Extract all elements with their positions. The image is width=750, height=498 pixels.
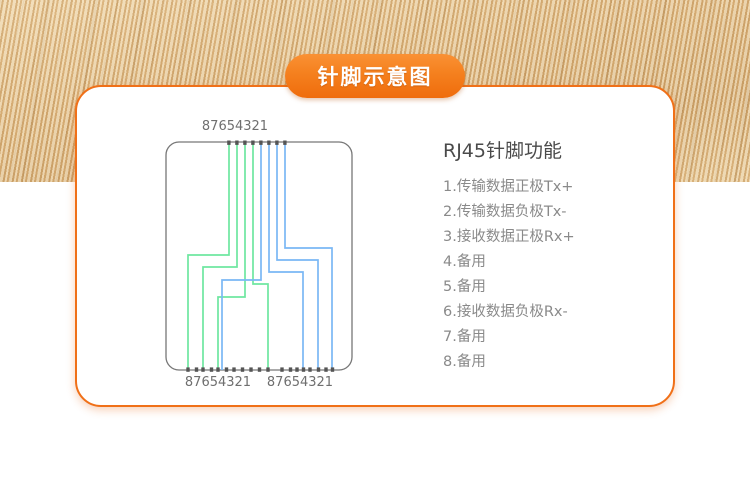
pin-function-item: 7.备用 <box>443 325 663 350</box>
pin-function-item: 4.备用 <box>443 250 663 275</box>
green-wire-group <box>188 143 268 370</box>
pin-function-item: 6.接收数据负极Rx- <box>443 300 663 325</box>
pin-function-item: 8.备用 <box>443 350 663 375</box>
bottom-left-pin-label: 87654321 <box>185 375 251 390</box>
pin-function-list: 1.传输数据正极Tx+ 2.传输数据负极Tx- 3.接收数据正极Rx+ 4.备用… <box>443 175 663 375</box>
pin-function-item: 5.备用 <box>443 275 663 300</box>
pin-function-item: 1.传输数据正极Tx+ <box>443 175 663 200</box>
top-pin-dots <box>227 141 286 145</box>
bottom-right-pin-label: 87654321 <box>267 375 333 390</box>
rj45-pinout-diagram: 87654321 <box>150 112 380 392</box>
pin-function-item: 3.接收数据正极Rx+ <box>443 225 663 250</box>
pin-function-item: 2.传输数据负极Tx- <box>443 200 663 225</box>
section-title-badge: 针脚示意图 <box>285 54 465 98</box>
connector-body-outline <box>166 142 352 370</box>
top-pin-label: 87654321 <box>202 119 268 134</box>
pin-function-panel: RJ45针脚功能 1.传输数据正极Tx+ 2.传输数据负极Tx- 3.接收数据正… <box>443 140 663 375</box>
pin-function-heading: RJ45针脚功能 <box>443 140 663 163</box>
blue-wire-group <box>222 143 332 370</box>
section-title-text: 针脚示意图 <box>318 61 433 91</box>
